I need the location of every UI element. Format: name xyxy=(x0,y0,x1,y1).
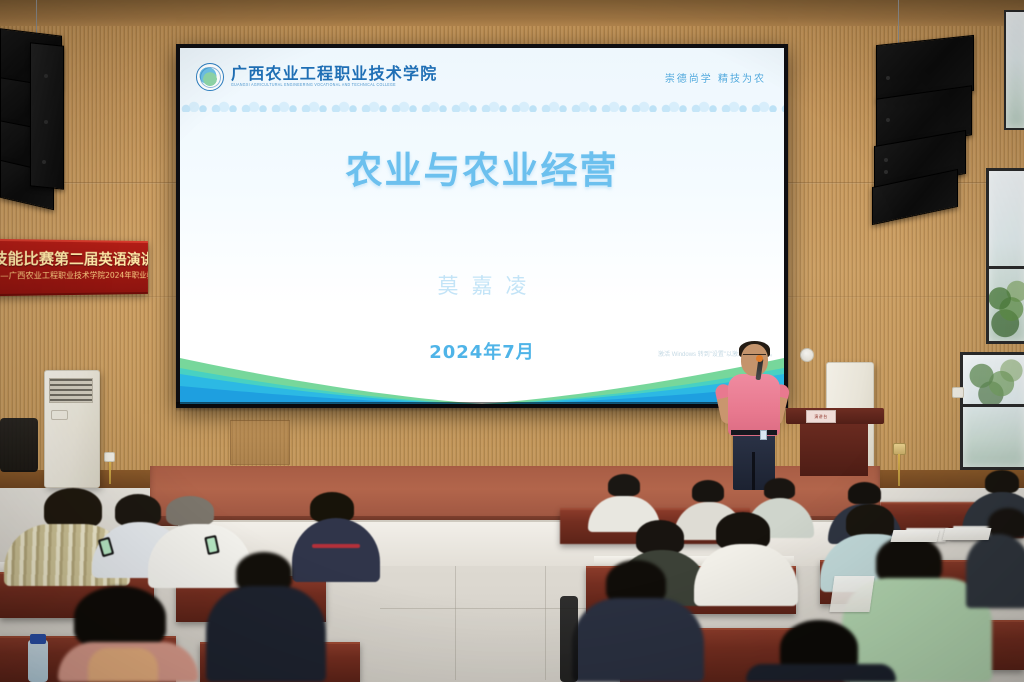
presenter-head xyxy=(741,344,768,376)
ceiling-band xyxy=(0,0,1024,26)
school-motto: 崇德尚学 精技为农 xyxy=(665,70,766,85)
school-name-cn: 广西农业工程职业技术学院 xyxy=(231,66,437,82)
banner-title: 技能比赛第二届英语演讲比赛 xyxy=(0,247,148,269)
wall-socket xyxy=(952,387,964,398)
window-right-upper xyxy=(986,168,1024,344)
projection-screen: 广西农业工程职业技术学院 GUANGXI AGRICULTURAL ENGINE… xyxy=(176,44,788,408)
banner-subtitle: ——广西农业工程职业技术学院2024年职业教育活动周 xyxy=(0,270,148,282)
school-crest-icon xyxy=(196,63,224,91)
screen-drop-shadow xyxy=(176,402,788,412)
slide-decorative-band xyxy=(180,98,784,112)
power-cable xyxy=(898,454,900,486)
presenter-leg-gap xyxy=(752,452,755,490)
school-brand: 广西农业工程职业技术学院 GUANGXI AGRICULTURAL ENGINE… xyxy=(196,63,437,91)
bottle-cap xyxy=(30,634,46,644)
presenter-belt xyxy=(731,430,777,435)
power-cable xyxy=(109,462,111,484)
school-name-en: GUANGXI AGRICULTURAL ENGINEERING VOCATIO… xyxy=(231,84,437,88)
air-conditioner-left xyxy=(44,370,100,488)
floor-tile-line xyxy=(455,560,456,680)
window-right-lower xyxy=(960,352,1024,470)
microphone-windscreen xyxy=(756,355,763,362)
water-bottle xyxy=(28,640,48,682)
slide-header: 广西农业工程职业技术学院 GUANGXI AGRICULTURAL ENGINE… xyxy=(180,56,784,98)
speaker-suspension-wire xyxy=(898,0,899,44)
presenter-badge xyxy=(760,430,767,440)
event-banner: 技能比赛第二届英语演讲比赛 ——广西农业工程职业技术学院2024年职业教育活动周 xyxy=(0,239,148,296)
podium-body xyxy=(800,422,868,476)
stage-wall-panel xyxy=(230,420,290,465)
presentation-slide: 广西农业工程职业技术学院 GUANGXI AGRICULTURAL ENGINE… xyxy=(180,48,784,404)
window-corner-upper xyxy=(1004,10,1024,130)
slide-author: 莫嘉凌 xyxy=(180,270,784,300)
lecture-hall-photo: 广西农业工程职业技术学院 GUANGXI AGRICULTURAL ENGINE… xyxy=(0,0,1024,682)
chair-back xyxy=(0,418,38,472)
presenter-shirt xyxy=(728,374,780,436)
floor-tile-line xyxy=(545,560,546,680)
slide-title: 农业与农业经营 xyxy=(180,140,784,194)
wall-socket xyxy=(104,452,115,462)
slide-wave-footer xyxy=(180,344,784,404)
podium-sign: 演讲台 xyxy=(806,410,836,423)
chair-back xyxy=(560,596,578,682)
wall-dome-fitting xyxy=(800,348,814,362)
